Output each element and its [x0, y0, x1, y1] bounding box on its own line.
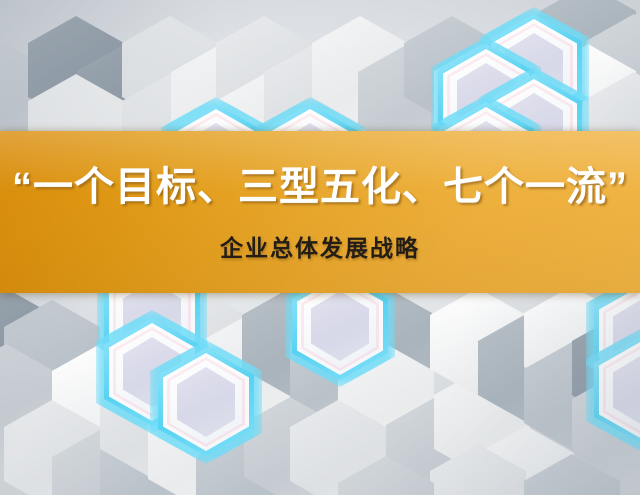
slide-canvas: “一个目标、三型五化、七个一流” 企业总体发展战略: [0, 0, 640, 495]
glowing-hexagon: [594, 336, 640, 444]
banner-subtitle: 企业总体发展战略: [0, 233, 640, 263]
banner-title: “一个目标、三型五化、七个一流”: [0, 161, 640, 213]
title-banner: “一个目标、三型五化、七个一流” 企业总体发展战略: [0, 131, 640, 293]
glowing-hexagon: [158, 348, 254, 456]
